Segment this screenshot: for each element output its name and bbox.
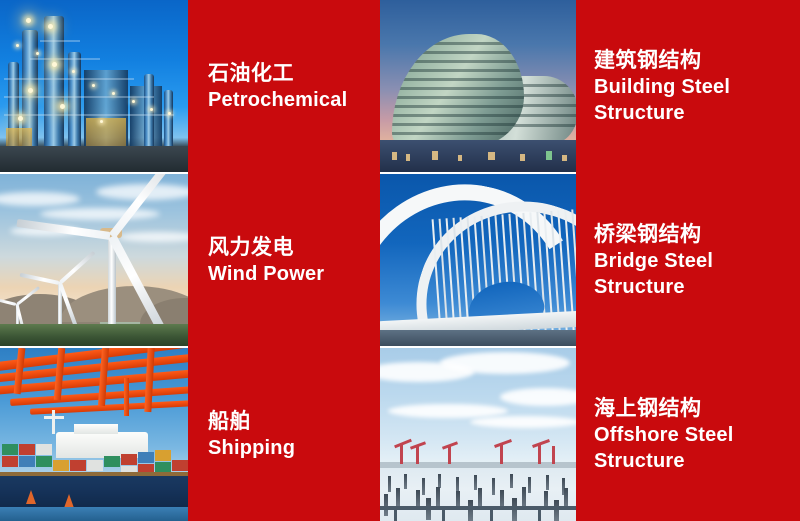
- row-divider-4: [0, 346, 188, 348]
- petrochemical-label: 石油化工 Petrochemical: [188, 0, 380, 172]
- offshore-steel-title-en: Offshore Steel Structure: [594, 422, 799, 474]
- shipping-label: 船舶 Shipping: [188, 348, 380, 521]
- row-divider-1: [380, 172, 576, 174]
- shipping-photo: [0, 348, 188, 521]
- shipping-title-en: Shipping: [208, 435, 380, 461]
- bridge-steel-structure-photo: [380, 174, 576, 346]
- petrochemical-title-en: Petrochemical: [208, 87, 380, 113]
- wind-power-photo: [0, 174, 188, 346]
- petrochemical-plant-photo: [0, 0, 188, 172]
- wind-power-title-en: Wind Power: [208, 261, 380, 287]
- offshore-steel-structure-photo: [380, 348, 576, 521]
- row-divider-2: [380, 346, 576, 348]
- offshore-steel-title-cn: 海上钢结构: [594, 395, 800, 422]
- building-steel-title-cn: 建筑钢结构: [594, 47, 800, 74]
- offshore-steel-structure-label: 海上钢结构 Offshore Steel Structure: [576, 348, 800, 521]
- row-divider-3: [0, 172, 188, 174]
- bridge-steel-structure-label: 桥梁钢结构 Bridge Steel Structure: [576, 174, 800, 346]
- wind-power-label: 风力发电 Wind Power: [188, 174, 380, 346]
- shipping-title-cn: 船舶: [208, 408, 380, 435]
- building-steel-structure-photo: [380, 0, 576, 172]
- petrochemical-title-cn: 石油化工: [208, 60, 380, 87]
- building-steel-structure-label: 建筑钢结构 Building Steel Structure: [576, 0, 800, 172]
- bridge-steel-title-cn: 桥梁钢结构: [594, 221, 800, 248]
- bridge-steel-title-en: Bridge Steel Structure: [594, 248, 754, 300]
- industry-applications-banner: 石油化工 Petrochemical: [0, 0, 800, 521]
- wind-power-title-cn: 风力发电: [208, 234, 380, 261]
- building-steel-title-en: Building Steel Structure: [594, 74, 754, 126]
